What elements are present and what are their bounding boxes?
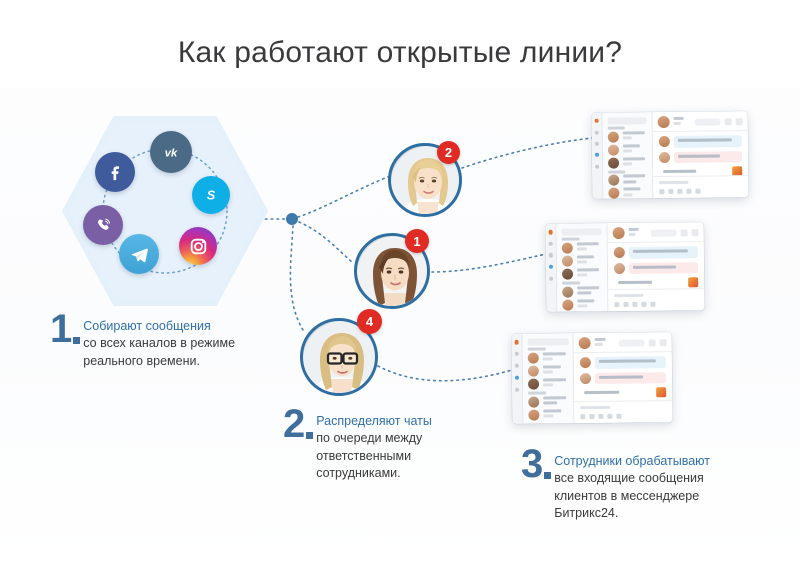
chat-message [580, 356, 666, 368]
svg-text:vk: vk [165, 147, 178, 159]
facebook-icon[interactable] [95, 152, 135, 192]
chat-header [607, 222, 704, 243]
message-bubble [674, 151, 742, 163]
more-icon[interactable] [650, 302, 655, 307]
chat-header-icon[interactable] [736, 118, 743, 125]
contact-avatar [528, 396, 539, 407]
step-1-body: со всех каналов в режиме реального време… [83, 335, 235, 370]
chat-window-1[interactable] [592, 111, 749, 199]
quote-icon[interactable] [686, 189, 691, 194]
step-3-text: Сотрудники обрабатывают все входящие соо… [554, 447, 710, 522]
message-bubble [614, 277, 685, 289]
chat-header-button[interactable] [695, 118, 721, 125]
operator-badge-3[interactable]: 4 [357, 309, 382, 334]
message-bubble [595, 356, 666, 368]
operator-badge-2[interactable]: 1 [405, 229, 429, 253]
emoji-icon[interactable] [668, 189, 673, 194]
contact-avatar [528, 409, 539, 420]
rail-avatar-icon [515, 340, 519, 344]
rail-icon-active[interactable] [595, 153, 599, 157]
contact-lines [623, 157, 648, 168]
emoji-icon[interactable] [590, 414, 595, 419]
hub-dot [286, 213, 298, 225]
chat-message [613, 246, 698, 258]
link-hub-to-operator-1 [298, 176, 390, 217]
mention-icon[interactable] [632, 302, 637, 307]
link-hub-to-operator-3 [290, 226, 303, 330]
rail-icon[interactable] [515, 364, 519, 368]
contact-lines [623, 188, 648, 199]
link-operator-3-to-chat-3 [378, 366, 512, 381]
list-group-label [562, 281, 580, 284]
list-group-label [561, 237, 579, 240]
contact-lines [543, 409, 569, 420]
contact-avatar [562, 242, 573, 253]
link-hub-to-operator-2 [299, 222, 352, 262]
emoji-icon[interactable] [623, 302, 628, 307]
message-avatar [613, 247, 624, 258]
composer-icons [659, 188, 742, 194]
more-icon[interactable] [617, 414, 622, 419]
chat-search-input[interactable] [528, 338, 569, 345]
message-avatar [614, 263, 625, 274]
contact-lines [543, 378, 569, 389]
more-icon[interactable] [695, 189, 700, 194]
link-operator-2-to-chat-2 [432, 254, 546, 272]
list-item[interactable] [607, 131, 647, 142]
list-item[interactable] [562, 255, 602, 266]
chat-header-lines [673, 116, 691, 127]
message-avatar [580, 357, 591, 368]
rail-icon[interactable] [595, 130, 599, 134]
step-1-number: 1 [50, 312, 83, 347]
step-3-heading: Сотрудники обрабатывают [554, 453, 710, 470]
contact-lines [622, 131, 647, 142]
chat-message [659, 151, 742, 163]
mention-icon[interactable] [599, 414, 604, 419]
chat-messages [574, 352, 672, 401]
chat-header-avatar [657, 116, 669, 128]
contact-avatar [608, 188, 619, 199]
contact-avatar [607, 131, 618, 142]
instagram-icon[interactable] [179, 227, 217, 265]
list-item[interactable] [608, 157, 648, 168]
contact-lines [543, 352, 569, 363]
contact-avatar [607, 144, 618, 155]
message-avatar [580, 373, 591, 384]
attach-icon[interactable] [659, 189, 664, 194]
contact-lines [623, 175, 648, 186]
contact-lines [543, 396, 569, 407]
composer-placeholder [614, 294, 644, 297]
message-bubble [595, 372, 666, 384]
rail-icon[interactable] [549, 242, 553, 246]
contact-avatar [562, 255, 573, 266]
contact-avatar [608, 157, 619, 168]
channels-hexagon: vk S [62, 112, 268, 310]
step-1: 1 Собирают сообщения со всех каналов в р… [50, 312, 235, 370]
chat-header [652, 111, 747, 132]
contact-lines [622, 144, 647, 155]
message-avatar [659, 152, 670, 163]
rail-icon[interactable] [595, 142, 599, 146]
list-item[interactable] [608, 175, 648, 186]
contact-avatar [528, 352, 539, 363]
chat-contact-list-3[interactable] [523, 333, 575, 424]
list-item[interactable] [528, 378, 569, 389]
list-group-label [528, 391, 546, 394]
message-bubble [629, 262, 699, 274]
list-item[interactable] [608, 188, 648, 199]
chat-messages [653, 131, 749, 176]
composer-placeholder [581, 406, 611, 409]
rail-icon-active[interactable] [549, 265, 553, 269]
list-item[interactable] [607, 144, 647, 155]
contact-lines [577, 255, 602, 266]
step-2-heading: Распределяют чаты [316, 413, 432, 430]
chat-header [574, 332, 672, 353]
quote-icon[interactable] [608, 414, 613, 419]
list-item[interactable] [562, 299, 602, 310]
step-2: 2 Распределяют чаты по очереди между отв… [283, 407, 432, 482]
attach-icon[interactable] [614, 302, 619, 307]
viber-icon[interactable] [83, 205, 123, 245]
chat-composer[interactable] [575, 400, 673, 423]
chat-search-input[interactable] [607, 117, 647, 124]
contact-lines [577, 286, 602, 297]
chat-header-avatar [612, 227, 624, 239]
chat-conversation-3 [574, 332, 673, 423]
chat-window-2[interactable] [546, 222, 705, 312]
rail-icon[interactable] [515, 387, 519, 391]
step-2-number: 2 [283, 407, 316, 442]
sticker-icon [688, 277, 698, 287]
message-bubble [628, 246, 698, 258]
chat-header-icon[interactable] [692, 229, 699, 236]
step-3-number: 3 [521, 447, 554, 482]
rail-icon[interactable] [595, 164, 599, 168]
telegram-icon[interactable] [119, 234, 159, 274]
chat-message [614, 262, 699, 274]
chat-message [659, 135, 742, 147]
chat-window-3[interactable] [512, 332, 673, 424]
vk-icon[interactable]: vk [150, 131, 192, 173]
contact-lines [577, 242, 602, 253]
chat-rail-3 [512, 334, 524, 424]
operator-badge-1[interactable]: 2 [437, 141, 460, 164]
rail-icon-active[interactable] [515, 375, 519, 379]
list-item[interactable] [528, 396, 569, 407]
contact-lines [543, 365, 569, 376]
chat-header-icon[interactable] [681, 229, 688, 236]
infographic-canvas: Как работают открытые линии? [0, 0, 800, 563]
step-2-body: по очереди между ответственными сотрудни… [316, 430, 432, 482]
chat-header-button[interactable] [618, 339, 644, 346]
list-item[interactable] [562, 242, 602, 253]
contact-lines [577, 268, 602, 279]
step-3-body: все входящие сообщения клиентов в мессен… [554, 470, 710, 522]
attach-icon[interactable] [581, 414, 586, 419]
chat-rail-1 [592, 113, 604, 199]
list-group-label [528, 347, 546, 350]
contact-avatar [528, 378, 539, 389]
chat-rail-2 [546, 224, 558, 312]
chat-conversation-2 [607, 222, 704, 311]
step-1-heading: Собирают сообщения [83, 318, 235, 335]
step-3: 3 Сотрудники обрабатывают все входящие с… [521, 447, 710, 522]
contact-avatar [608, 175, 619, 186]
step-1-text: Собирают сообщения со всех каналов в реж… [83, 312, 235, 370]
list-group-label [607, 126, 625, 129]
contact-avatar [562, 286, 573, 297]
contact-lines [577, 299, 602, 310]
chat-search-input[interactable] [561, 228, 601, 235]
chat-header-icon[interactable] [725, 118, 732, 125]
rail-icon[interactable] [515, 352, 519, 356]
list-item[interactable] [562, 268, 602, 279]
contact-avatar [528, 365, 539, 376]
list-item[interactable] [528, 409, 569, 420]
message-bubble [580, 387, 652, 399]
composer-icons [614, 301, 698, 307]
chat-header-avatar [579, 337, 591, 349]
list-item[interactable] [528, 365, 569, 376]
sticker-icon [656, 387, 666, 397]
chat-header-lines [595, 337, 614, 348]
skype-icon[interactable]: S [192, 176, 230, 214]
chat-messages [607, 242, 704, 289]
quote-icon[interactable] [641, 302, 646, 307]
svg-text:S: S [207, 189, 216, 203]
step-2-text: Распределяют чаты по очереди между ответ… [316, 407, 432, 482]
chat-message [580, 372, 666, 384]
contact-avatar [562, 299, 573, 310]
contact-avatar [562, 268, 573, 279]
chat-contact-list-2[interactable] [557, 223, 608, 312]
chat-composer[interactable] [608, 288, 705, 311]
list-item[interactable] [562, 286, 602, 297]
rail-avatar-icon [594, 119, 598, 123]
message-avatar [659, 136, 670, 147]
rail-icon[interactable] [549, 276, 553, 280]
chat-message [580, 387, 666, 399]
chat-composer[interactable] [653, 175, 748, 198]
rail-avatar-icon [549, 230, 553, 234]
composer-icons [581, 413, 667, 419]
link-operator-1-to-chat-1 [462, 138, 592, 168]
list-item[interactable] [528, 352, 569, 363]
list-group-label [608, 170, 626, 173]
chat-header-lines [628, 227, 647, 238]
rail-icon[interactable] [549, 253, 553, 257]
chat-conversation-1 [652, 111, 748, 198]
chat-header-icon[interactable] [649, 339, 656, 346]
chat-header-icon[interactable] [660, 339, 667, 346]
mention-icon[interactable] [677, 189, 682, 194]
chat-contact-list-1[interactable] [602, 112, 653, 199]
composer-placeholder [659, 181, 688, 184]
message-bubble [674, 135, 742, 147]
chat-header-button[interactable] [651, 229, 677, 236]
